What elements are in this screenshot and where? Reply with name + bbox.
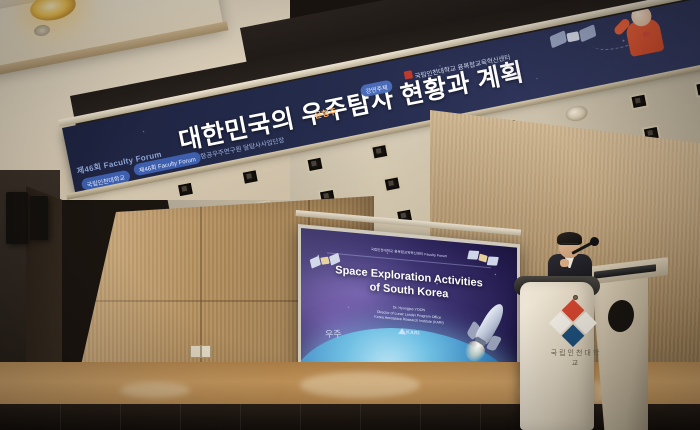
ceiling-square-downlight-icon	[694, 80, 700, 98]
organizer-mark-icon	[404, 70, 413, 79]
presenter-hand	[560, 259, 569, 267]
loudspeaker-icon-2	[30, 196, 48, 240]
podium-institution-label: 국립인천대학교	[548, 348, 604, 368]
ceiling-square-downlight-icon	[629, 92, 649, 110]
ceiling-square-downlight-icon	[176, 181, 196, 199]
ceiling-square-downlight-icon	[240, 168, 260, 186]
ceiling-square-downlight-icon	[370, 143, 390, 161]
stage-front-edge	[0, 404, 700, 430]
slide-scribble-text: 우주	[324, 327, 342, 341]
kari-mark-icon	[398, 328, 406, 335]
wall-outlet-plate[interactable]	[201, 345, 211, 358]
loudspeaker-icon	[6, 192, 28, 244]
ceiling-round-light-icon	[564, 104, 588, 123]
presenter-glasses-icon	[561, 243, 578, 248]
lecture-hall-photo: 제46회 Faculty Forum 대한민국의 우주탐사 현황과 계획 한국항…	[0, 0, 700, 430]
wall-switch-plate[interactable]	[190, 345, 201, 358]
ceiling-square-downlight-icon	[305, 155, 325, 173]
ceiling-square-downlight-icon	[382, 175, 402, 193]
kari-logo-text: KARI	[406, 329, 420, 336]
